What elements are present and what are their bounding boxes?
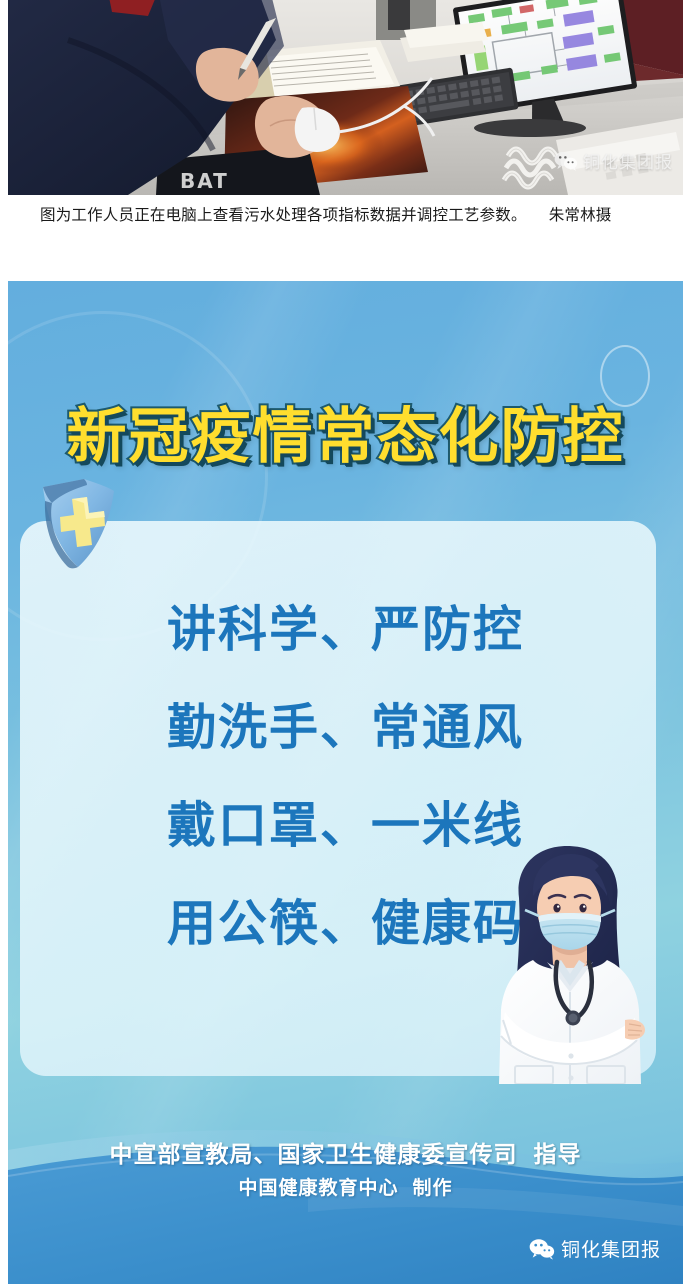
- credit-sub-role: 制作: [413, 1177, 453, 1199]
- caption-text: 图为工作人员正在电脑上查看污水处理各项指标数据并调控工艺参数。: [40, 206, 527, 224]
- poster-credits: 中宣部宣教局、国家卫生健康委宣传司指导 中国健康教育中心制作: [8, 1138, 683, 1204]
- slogan-line-2: 勤洗手、常通风: [8, 679, 683, 777]
- poster-watermark-label: 铜化集团报: [561, 1235, 661, 1262]
- covid-prevention-poster: 新冠疫情常态化防控 讲科学、严防控 勤洗手、常通风 戴口罩、一米线 用公筷、健康…: [8, 281, 683, 1284]
- article-page: BAT: [0, 0, 691, 1284]
- credit-main-line: 中宣部宣教局、国家卫生健康委宣传司指导: [8, 1138, 683, 1172]
- article-photo: BAT: [8, 0, 683, 195]
- decorative-circle: [600, 345, 650, 407]
- wechat-icon: [529, 1238, 555, 1260]
- photo-caption: 图为工作人员正在电脑上查看污水处理各项指标数据并调控工艺参数。朱常林摄: [8, 200, 683, 230]
- credit-main-org: 中宣部宣教局、国家卫生健康委宣传司: [110, 1142, 518, 1168]
- photo-watermark-label: 铜化集团报: [583, 148, 673, 173]
- doctor-with-mask-illustration: [475, 834, 665, 1084]
- caption-author: 朱常林摄: [549, 206, 612, 224]
- poster-watermark: 铜化集团报: [529, 1235, 661, 1262]
- credit-sub-org: 中国健康教育中心: [238, 1177, 398, 1199]
- shield-cross-icon: [34, 477, 120, 573]
- slogan-line-1: 讲科学、严防控: [8, 581, 683, 679]
- poster-title: 新冠疫情常态化防控: [8, 405, 683, 469]
- credit-sub-line: 中国健康教育中心制作: [8, 1172, 683, 1204]
- svg-text:BAT: BAT: [180, 169, 229, 193]
- credit-main-role: 指导: [534, 1142, 582, 1168]
- photo-watermark: 铜化集团报: [554, 148, 673, 173]
- wechat-icon: [554, 151, 578, 171]
